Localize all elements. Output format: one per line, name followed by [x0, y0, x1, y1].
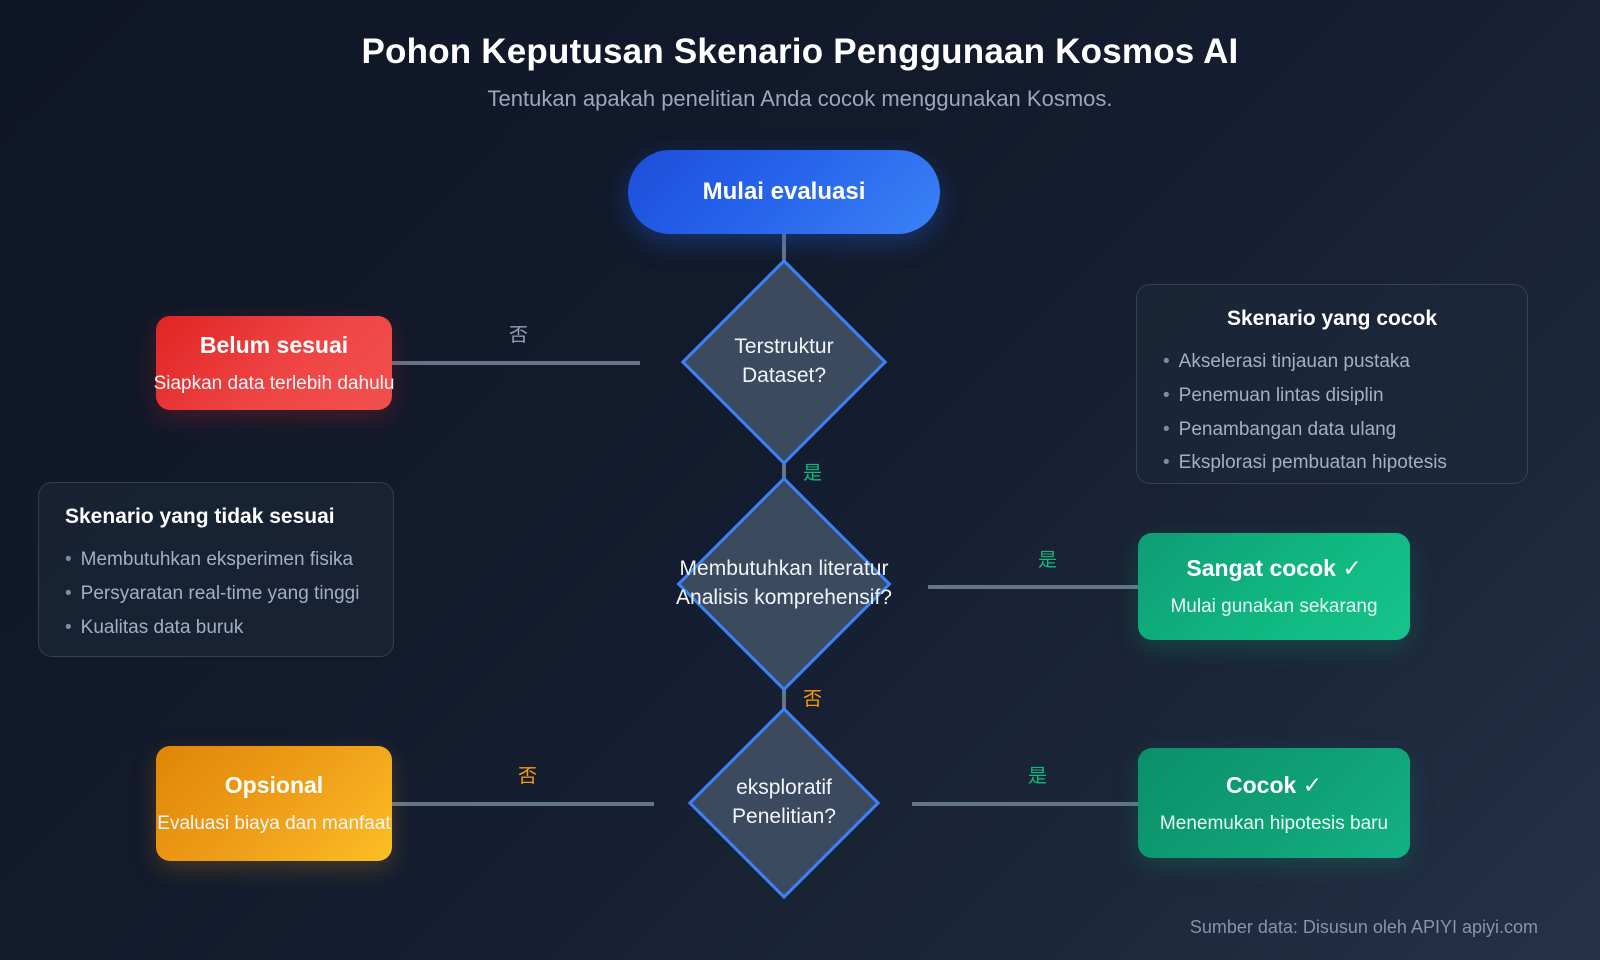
outcome-highly-suitable[interactable]: Sangat cocok ✓ Mulai gunakan sekarang — [1138, 533, 1410, 640]
outcome-suitable[interactable]: Cocok ✓ Menemukan hipotesis baru — [1138, 748, 1410, 858]
decision-node-literature-label: Membutuhkan literatur Analisis komprehen… — [676, 555, 892, 613]
panel-unsuitable-scenarios: Skenario yang tidak sesuai Membutuhkan e… — [38, 482, 394, 657]
outcome-optional[interactable]: Opsional Evaluasi biaya dan manfaat — [156, 746, 392, 861]
decision-node-exploratory[interactable]: eksploratif Penelitian? — [690, 735, 878, 871]
panel-unsuitable-scenarios-list: Membutuhkan eksperimen fisika Persyarata… — [65, 543, 367, 644]
connector-exploratory-to-suitable — [912, 802, 1142, 806]
outcome-optional-title: Opsional — [225, 772, 323, 799]
outcome-optional-subtitle: Evaluasi biaya dan manfaat — [157, 813, 390, 835]
decision-node-literature[interactable]: Membutuhkan literatur Analisis komprehen… — [682, 508, 886, 660]
outcome-suitable-subtitle: Menemukan hipotesis baru — [1160, 813, 1388, 835]
decision-node-exploratory-label: eksploratif Penelitian? — [732, 774, 836, 832]
edge-label-dataset-no: 否 — [509, 326, 528, 345]
connector-dataset-to-not-ready — [388, 361, 640, 365]
outcome-highly-suitable-title: Sangat cocok ✓ — [1186, 555, 1361, 582]
decision-line-2: Dataset? — [734, 362, 833, 391]
decision-line-2: Analisis komprehensif? — [676, 584, 892, 613]
edge-label-literature-yes: 是 — [1038, 551, 1057, 570]
panel-suitable-scenarios-title: Skenario yang cocok — [1163, 307, 1501, 331]
list-item: Membutuhkan eksperimen fisika — [65, 543, 367, 577]
panel-suitable-scenarios: Skenario yang cocok Akselerasi tinjauan … — [1136, 284, 1528, 484]
page-title: Pohon Keputusan Skenario Penggunaan Kosm… — [0, 32, 1600, 72]
panel-unsuitable-scenarios-title: Skenario yang tidak sesuai — [65, 505, 367, 529]
outcome-not-ready-subtitle: Siapkan data terlebih dahulu — [154, 373, 395, 395]
decision-node-dataset-label: Terstruktur Dataset? — [734, 333, 833, 391]
connector-literature-to-highly-suitable — [928, 585, 1142, 589]
list-item: Penemuan lintas disiplin — [1163, 379, 1501, 413]
decision-line-1: Terstruktur — [734, 333, 833, 362]
start-node[interactable]: Mulai evaluasi — [628, 150, 940, 234]
connector-exploratory-to-optional — [388, 802, 654, 806]
outcome-not-ready-title: Belum sesuai — [200, 332, 348, 359]
decision-line-2: Penelitian? — [732, 803, 836, 832]
list-item: Kualitas data buruk — [65, 611, 367, 645]
outcome-highly-suitable-subtitle: Mulai gunakan sekarang — [1170, 596, 1377, 618]
edge-label-dataset-yes: 是 — [803, 464, 822, 483]
footer-source-note: Sumber data: Disusun oleh APIYI apiyi.co… — [1190, 917, 1538, 938]
decision-line-1: Membutuhkan literatur — [676, 555, 892, 584]
outcome-suitable-title: Cocok ✓ — [1226, 772, 1322, 799]
edge-label-exploratory-yes: 是 — [1028, 767, 1047, 786]
diagram-canvas: Pohon Keputusan Skenario Penggunaan Kosm… — [0, 0, 1600, 960]
edge-label-exploratory-no: 否 — [518, 767, 537, 786]
list-item: Eksplorasi pembuatan hipotesis — [1163, 446, 1501, 480]
list-item: Akselerasi tinjauan pustaka — [1163, 345, 1501, 379]
decision-line-1: eksploratif — [732, 774, 836, 803]
start-node-label: Mulai evaluasi — [703, 178, 866, 206]
edge-label-literature-no: 否 — [803, 690, 822, 709]
page-subtitle: Tentukan apakah penelitian Anda cocok me… — [0, 86, 1600, 112]
decision-node-dataset[interactable]: Terstruktur Dataset? — [682, 289, 886, 435]
list-item: Penambangan data ulang — [1163, 413, 1501, 447]
list-item: Persyaratan real-time yang tinggi — [65, 577, 367, 611]
outcome-not-ready[interactable]: Belum sesuai Siapkan data terlebih dahul… — [156, 316, 392, 410]
panel-suitable-scenarios-list: Akselerasi tinjauan pustaka Penemuan lin… — [1163, 345, 1501, 480]
